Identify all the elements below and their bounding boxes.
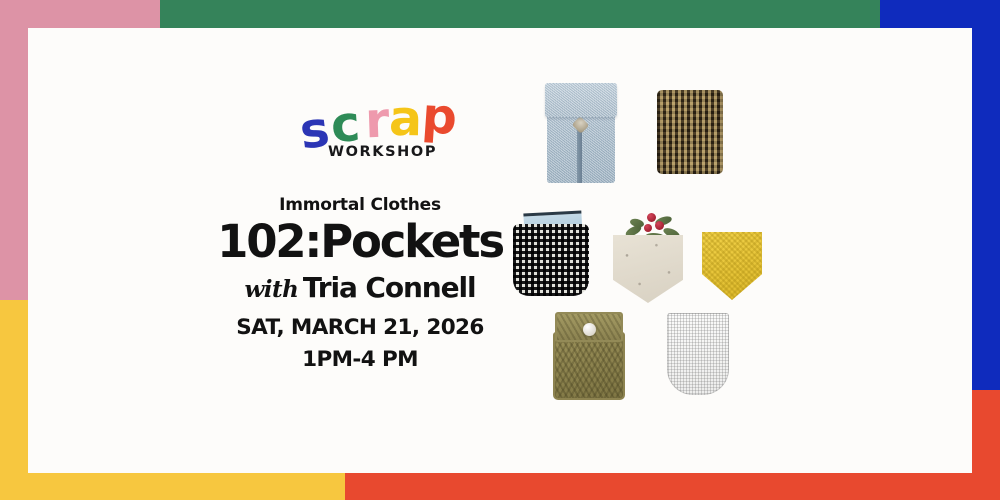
- denim-pocket-placket: [577, 129, 582, 183]
- denim-pocket-flap: [545, 83, 617, 117]
- pocket-samples-collage: [505, 60, 825, 410]
- olive-pocket-body: [553, 332, 625, 400]
- frame-block-green: [160, 0, 880, 28]
- logo-letter-r: r: [364, 96, 389, 146]
- presenter-name: Tria Connell: [303, 271, 476, 304]
- bw-pocket-body: [513, 224, 589, 296]
- cream-speckled-pocket-image: [613, 215, 683, 303]
- denim-flap-pocket-image: [547, 83, 615, 183]
- logo-letter-p: p: [420, 91, 457, 142]
- cream-pocket-body: [613, 235, 683, 303]
- yellow-pointed-pocket-image: [702, 232, 762, 300]
- olive-herringbone-pocket-image: [553, 312, 625, 400]
- event-poster: s c r a p WORKSHOP Immortal Clothes 102:…: [0, 0, 1000, 500]
- logo-letter-s: s: [297, 104, 331, 156]
- berry-icon: [644, 224, 652, 232]
- black-white-pattern-pocket-image: [513, 212, 589, 296]
- white-knit-pocket-image: [667, 313, 729, 395]
- berry-icon: [647, 213, 656, 222]
- scrap-workshop-logo: s c r a p WORKSHOP: [298, 92, 468, 164]
- olive-pocket-button: [583, 323, 596, 336]
- tweed-pocket-image: [657, 90, 723, 174]
- logo-subtitle: WORKSHOP: [328, 144, 437, 160]
- logo-letter-c: c: [329, 99, 360, 150]
- with-label: with: [244, 276, 298, 303]
- berry-icon: [655, 221, 664, 230]
- logo-letter-a: a: [389, 94, 422, 144]
